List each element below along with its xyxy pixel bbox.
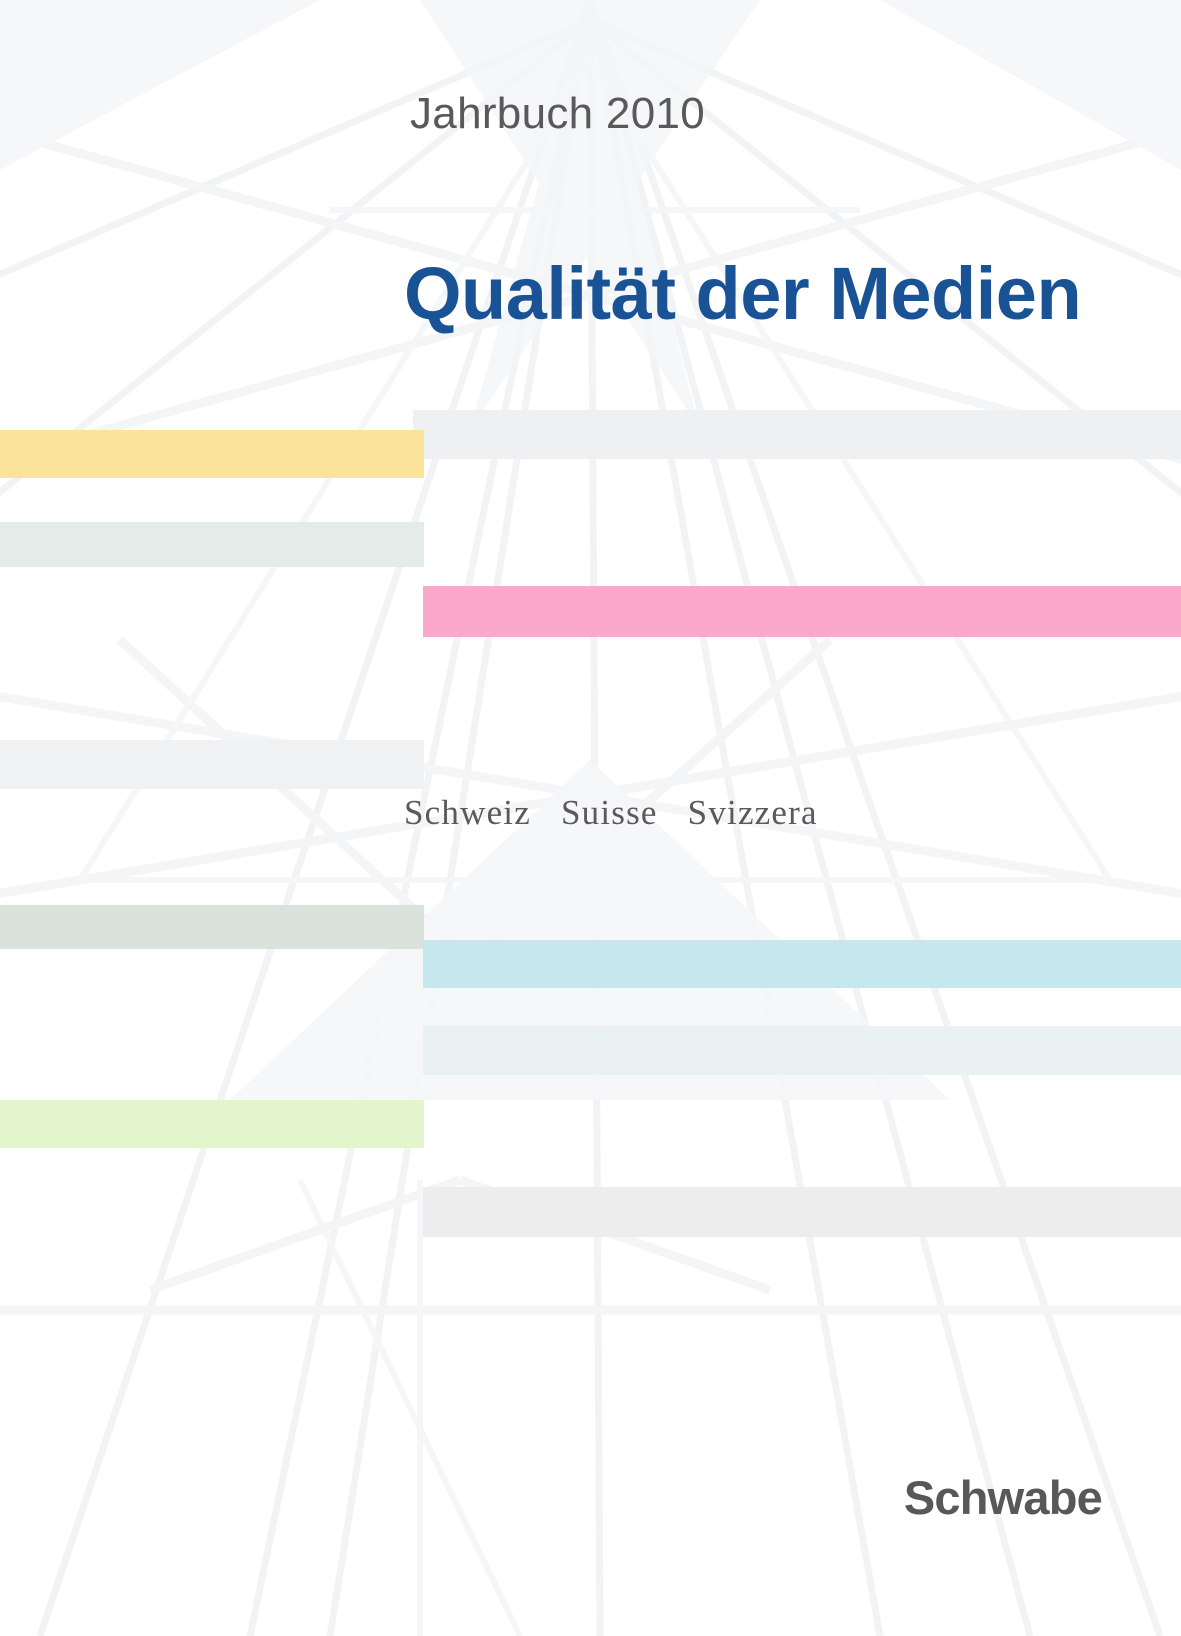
bar-cyan-right [423, 940, 1181, 988]
publisher-logo: Schwabe [904, 1470, 1102, 1525]
language-de: Schweiz [404, 793, 531, 832]
bar-mint-right [423, 1026, 1181, 1075]
bar-gray-top-right [413, 410, 1181, 459]
language-it: Svizzera [688, 793, 818, 832]
bar-green-left [0, 1100, 424, 1148]
language-line: SchweizSuisseSvizzera [404, 793, 818, 833]
language-fr: Suisse [561, 793, 658, 832]
bar-gray-bottom-right [423, 1187, 1181, 1237]
bar-pink-right [423, 586, 1181, 637]
bar-teal-pale-left [0, 522, 424, 567]
bar-gray-mid-left [0, 740, 424, 789]
book-cover: Jahrbuch 2010 Qualität der Medien Schwei… [0, 0, 1181, 1636]
bar-sage-left [0, 905, 424, 949]
page-title: Qualität der Medien [404, 251, 1081, 336]
bar-yellow-left [0, 430, 424, 478]
yearbook-label: Jahrbuch 2010 [410, 89, 705, 139]
